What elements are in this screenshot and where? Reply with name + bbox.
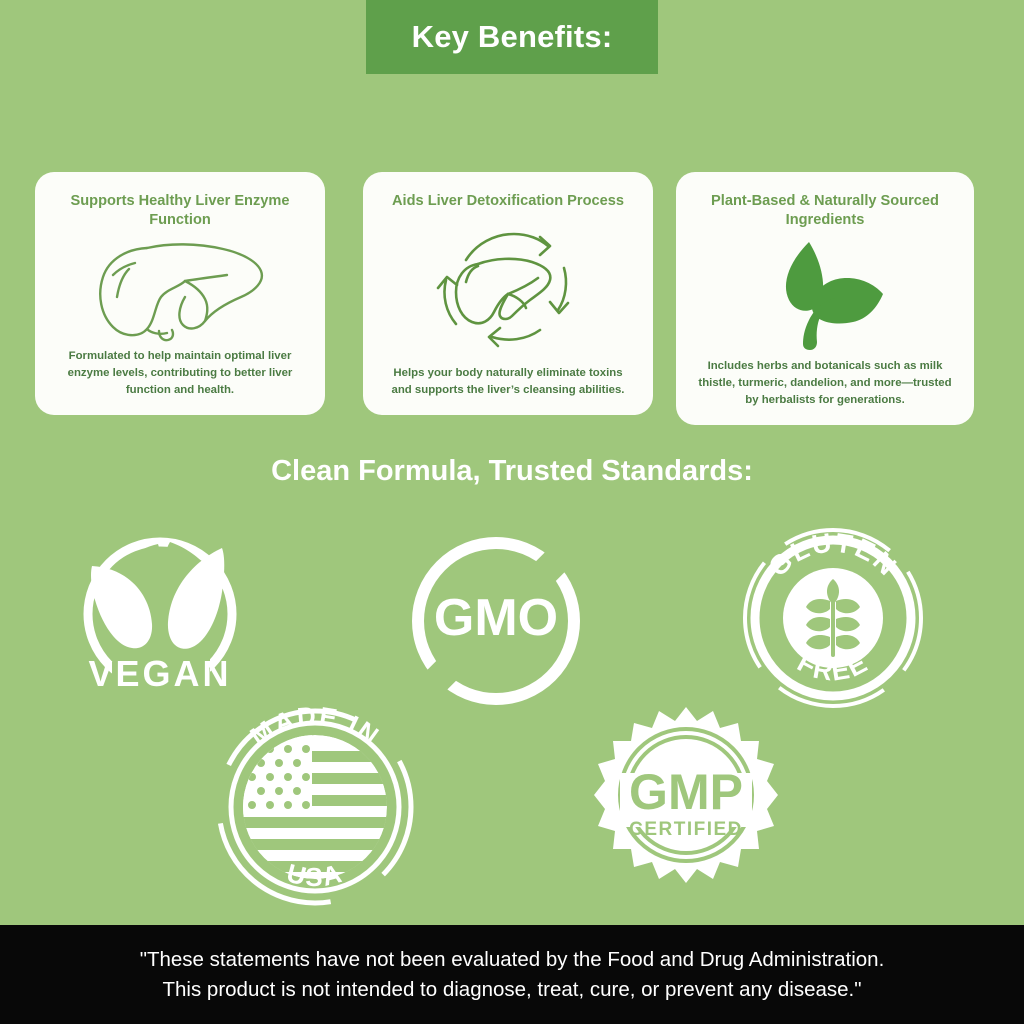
benefit-card-title: Plant-Based & Naturally Sourced Ingredie…: [690, 192, 960, 229]
made-in-usa-flag-icon: MADE IN USA: [212, 701, 418, 913]
two-leaves-icon: [690, 229, 960, 357]
benefit-card-detoxification: Aids Liver Detoxification Process: [363, 172, 653, 415]
benefit-card-description: Helps your body naturally eliminate toxi…: [383, 365, 633, 399]
benefit-card-title: Aids Liver Detoxification Process: [392, 192, 624, 211]
key-benefits-banner: Key Benefits:: [366, 0, 658, 74]
liver-recycle-arrows-icon: [377, 211, 639, 365]
liver-outline-icon: [49, 229, 311, 347]
benefit-card-liver-enzyme: Supports Healthy Liver Enzyme Function F…: [35, 172, 325, 415]
gmp-label: GMP: [629, 764, 743, 820]
benefit-cards-row: Supports Healthy Liver Enzyme Function F…: [0, 172, 1024, 432]
standards-heading: Clean Formula, Trusted Standards:: [0, 455, 1024, 488]
benefit-card-description: Formulated to help maintain optimal live…: [55, 348, 305, 399]
benefit-card-description: Includes herbs and botanicals such as mi…: [696, 358, 954, 409]
gluten-free-wheat-icon: GLUTEN FREE: [738, 523, 928, 713]
benefit-card-title: Supports Healthy Liver Enzyme Function: [49, 192, 311, 229]
gmp-certified-starburst-icon: GMP CERTIFIED: [594, 705, 778, 889]
usa-label-bottom: USA: [284, 858, 347, 892]
gmo-label: GMO: [434, 589, 558, 647]
fda-disclaimer: "These statements have not been evaluate…: [0, 925, 1024, 1024]
trust-badges-group: VEGAN GMO: [0, 515, 1024, 915]
page-title: Key Benefits:: [412, 19, 613, 55]
non-gmo-crossed-circle-icon: GMO: [406, 531, 586, 711]
disclaimer-line-1: "These statements have not been evaluate…: [140, 945, 885, 974]
vegan-label: VEGAN: [88, 653, 231, 694]
disclaimer-line-2: This product is not intended to diagnose…: [163, 975, 862, 1004]
gmp-sublabel: CERTIFIED: [629, 819, 743, 840]
vegan-leaves-badge-icon: VEGAN: [62, 524, 258, 710]
benefit-card-plant-based: Plant-Based & Naturally Sourced Ingredie…: [676, 172, 974, 425]
